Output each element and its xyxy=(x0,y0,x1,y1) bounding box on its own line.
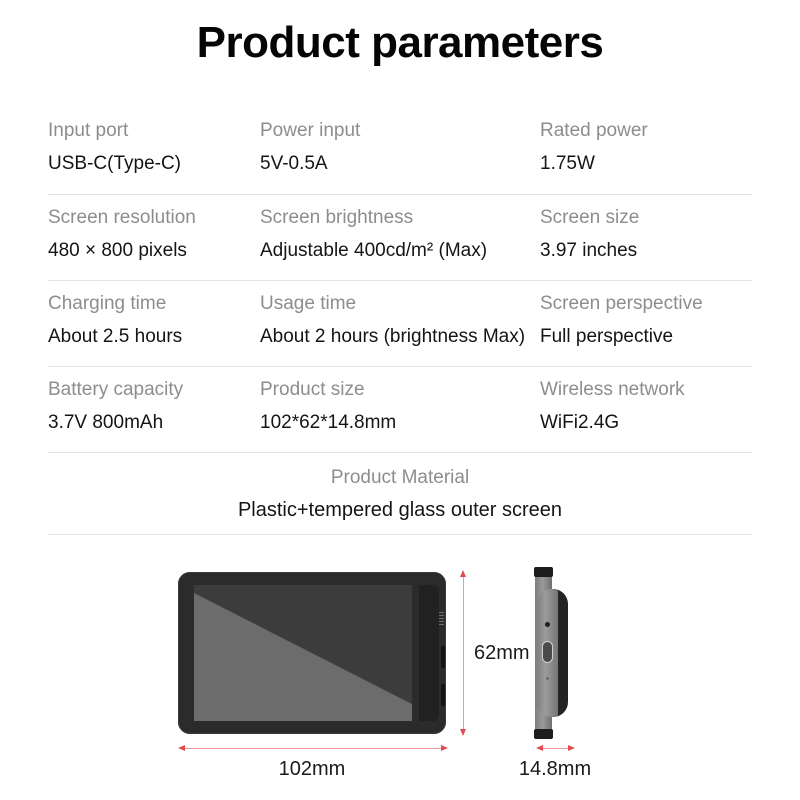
spec-value: Plastic+tempered glass outer screen xyxy=(48,496,752,524)
spec-table: Input port USB-C(Type-C) Power input 5V-… xyxy=(48,108,752,535)
spec-cell-usage-time: Usage time About 2 hours (brightness Max… xyxy=(260,291,540,366)
spec-value: 3.7V 800mAh xyxy=(48,409,260,436)
spec-label: Rated power xyxy=(540,118,752,144)
device-side-view xyxy=(528,567,582,739)
spec-label: Screen brightness xyxy=(260,205,540,231)
spec-cell-product-material: Product Material Plastic+tempered glass … xyxy=(48,452,752,534)
spec-cell-power-input: Power input 5V-0.5A xyxy=(260,118,540,194)
spec-row: Input port USB-C(Type-C) Power input 5V-… xyxy=(48,108,752,194)
table-bottom-divider xyxy=(48,534,752,535)
spec-value: Adjustable 400cd/m² (Max) xyxy=(260,237,540,264)
height-arrow-down-icon xyxy=(460,729,466,736)
spec-cell-screen-resolution: Screen resolution 480 × 800 pixels xyxy=(48,205,260,280)
device-button-lower xyxy=(441,684,445,706)
spec-cell-battery-capacity: Battery capacity 3.7V 800mAh xyxy=(48,377,260,452)
spec-label: Power input xyxy=(260,118,540,144)
spec-row: Battery capacity 3.7V 800mAh Product siz… xyxy=(48,366,752,452)
width-arrow-right-icon xyxy=(441,745,448,751)
spec-value: 5V-0.5A xyxy=(260,150,540,177)
spec-cell-screen-perspective: Screen perspective Full perspective xyxy=(540,291,752,366)
device-side-cap-bottom xyxy=(534,729,553,739)
spec-value: Full perspective xyxy=(540,323,752,350)
screen-glass-reflection xyxy=(194,585,412,721)
spec-cell-screen-size: Screen size 3.97 inches xyxy=(540,205,752,280)
device-side-body-face xyxy=(537,589,558,717)
page-title: Product parameters xyxy=(0,18,800,68)
spec-label: Input port xyxy=(48,118,260,144)
spec-label: Usage time xyxy=(260,291,540,317)
spec-value: 102*62*14.8mm xyxy=(260,409,540,436)
device-side-cap-top xyxy=(534,567,553,577)
speaker-grille-icon xyxy=(439,612,444,627)
spec-row: Charging time About 2.5 hours Usage time… xyxy=(48,280,752,366)
height-dimension-label: 62mm xyxy=(474,642,530,665)
height-arrow-up-icon xyxy=(460,570,466,577)
device-right-bezel xyxy=(419,585,439,721)
width-dimension-line xyxy=(182,748,444,749)
spec-label: Screen perspective xyxy=(540,291,752,317)
spec-row: Screen resolution 480 × 800 pixels Scree… xyxy=(48,194,752,280)
spec-label: Product size xyxy=(260,377,540,403)
spec-value: 3.97 inches xyxy=(540,237,752,264)
thickness-arrow-left-icon xyxy=(536,745,543,751)
reset-hole-icon xyxy=(546,677,549,680)
spec-value: WiFi2.4G xyxy=(540,409,752,436)
spec-label: Battery capacity xyxy=(48,377,260,403)
thickness-dimension-line xyxy=(540,748,571,749)
spec-label: Wireless network xyxy=(540,377,752,403)
device-button-upper xyxy=(441,646,445,668)
spec-value: About 2 hours (brightness Max) xyxy=(260,323,540,350)
spec-cell-screen-brightness: Screen brightness Adjustable 400cd/m² (M… xyxy=(260,205,540,280)
spec-value: 1.75W xyxy=(540,150,752,177)
device-screen xyxy=(194,585,412,721)
device-side-body xyxy=(537,589,568,717)
spec-cell-rated-power: Rated power 1.75W xyxy=(540,118,752,194)
device-front-view xyxy=(178,572,446,734)
width-arrow-left-icon xyxy=(178,745,185,751)
spec-cell-product-size: Product size 102*62*14.8mm xyxy=(260,377,540,452)
microphone-hole-icon xyxy=(545,622,550,627)
spec-cell-wireless-network: Wireless network WiFi2.4G xyxy=(540,377,752,452)
spec-cell-charging-time: Charging time About 2.5 hours xyxy=(48,291,260,366)
spec-cell-input-port: Input port USB-C(Type-C) xyxy=(48,118,260,194)
spec-label: Charging time xyxy=(48,291,260,317)
product-diagram: 102mm 62mm 14.8mm xyxy=(0,545,800,800)
thickness-dimension-label: 14.8mm xyxy=(455,758,655,781)
height-dimension-line xyxy=(463,576,464,731)
thickness-arrow-right-icon xyxy=(568,745,575,751)
spec-label: Product Material xyxy=(48,465,752,491)
spec-label: Screen size xyxy=(540,205,752,231)
spec-value: USB-C(Type-C) xyxy=(48,150,260,177)
product-parameters-page: Product parameters Input port USB-C(Type… xyxy=(0,0,800,800)
spec-label: Screen resolution xyxy=(48,205,260,231)
usb-c-port-icon xyxy=(542,641,553,663)
spec-value: About 2.5 hours xyxy=(48,323,260,350)
spec-value: 480 × 800 pixels xyxy=(48,237,260,264)
